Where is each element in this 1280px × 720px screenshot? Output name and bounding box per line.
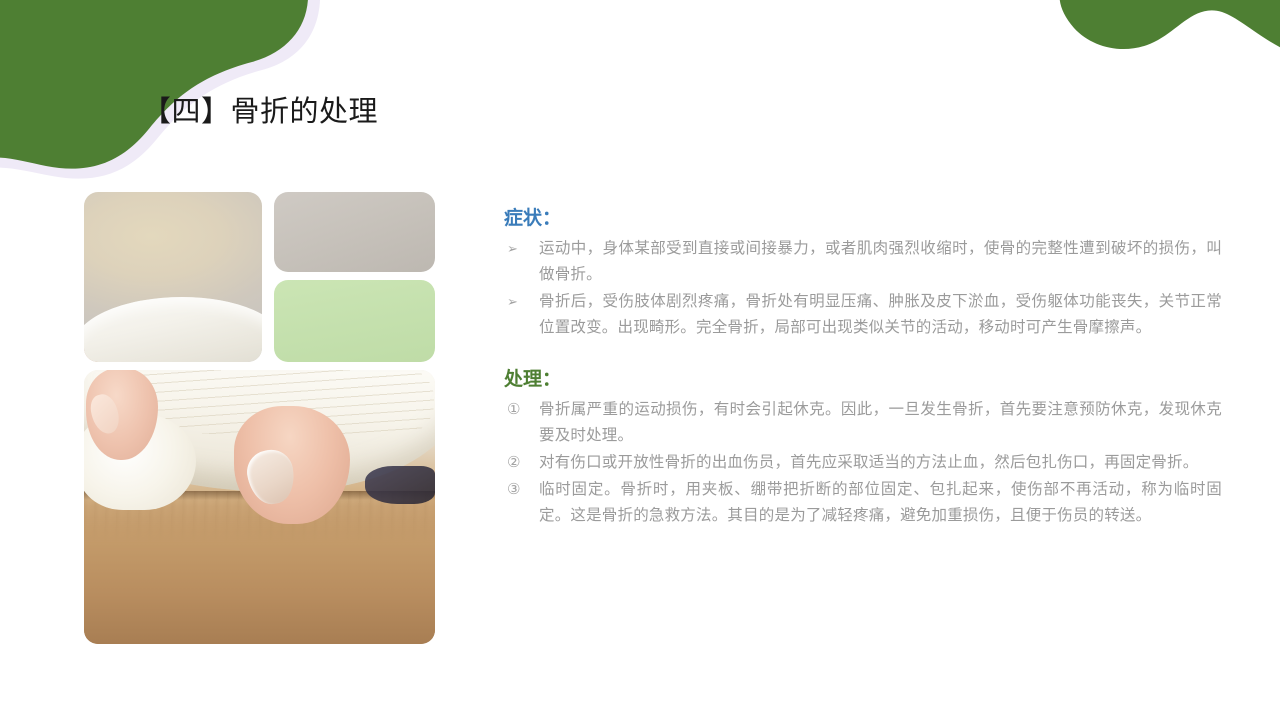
list-item-text: 骨折后，受伤肢体剧烈疼痛，骨折处有明显压痛、肿胀及皮下淤血，受伤躯体功能丧失，关… bbox=[539, 289, 1222, 341]
lavender-shadow-shape bbox=[0, 0, 320, 179]
circled-number-icon: ③ bbox=[504, 477, 539, 503]
section-heading-symptoms: 症状： bbox=[504, 206, 1222, 232]
image-collage bbox=[84, 192, 435, 644]
symptoms-list: ➢ 运动中，身体某部受到直接或间接暴力，或者肌肉强烈收缩时，使骨的完整性遭到破坏… bbox=[504, 236, 1222, 341]
content-column: 症状： ➢ 运动中，身体某部受到直接或间接暴力，或者肌肉强烈收缩时，使骨的完整性… bbox=[504, 206, 1222, 555]
background-dark-patch bbox=[365, 466, 435, 504]
thumbnail-shape bbox=[244, 446, 299, 507]
section-treatment: 处理： ① 骨折属严重的运动损伤，有时会引起休克。因此，一旦发生骨折，首先要注意… bbox=[504, 367, 1222, 529]
green-blob-top-left bbox=[0, 0, 308, 169]
circled-number-icon: ① bbox=[504, 397, 539, 423]
thumb-shape bbox=[234, 406, 350, 524]
list-item-text: 对有伤口或开放性骨折的出血伤员，首先应采取适当的方法止血，然后包扎伤口，再固定骨… bbox=[539, 450, 1222, 476]
list-item: ① 骨折属严重的运动损伤，有时会引起休克。因此，一旦发生骨折，首先要注意预防休克… bbox=[504, 397, 1222, 449]
thumb-tip-shape bbox=[84, 328, 114, 362]
color-block-green bbox=[274, 280, 435, 362]
list-item-text: 骨折属严重的运动损伤，有时会引起休克。因此，一旦发生骨折，首先要注意预防休克，发… bbox=[539, 397, 1222, 449]
photo-bandaged-hand-on-table bbox=[84, 370, 435, 644]
photo-bandaged-hand-closeup bbox=[84, 192, 262, 362]
fingernail-shape bbox=[87, 391, 123, 437]
page-title: 【四】骨折的处理 bbox=[142, 92, 378, 132]
section-symptoms: 症状： ➢ 运动中，身体某部受到直接或间接暴力，或者肌肉强烈收缩时，使骨的完整性… bbox=[504, 206, 1222, 341]
color-block-gray bbox=[274, 192, 435, 272]
list-item-text: 临时固定。骨折时，用夹板、绷带把折断的部位固定、包扎起来，使伤部不再活动，称为临… bbox=[539, 477, 1222, 529]
list-item: ➢ 骨折后，受伤肢体剧烈疼痛，骨折处有明显压痛、肿胀及皮下淤血，受伤躯体功能丧失… bbox=[504, 289, 1222, 341]
arrow-bullet-icon: ➢ bbox=[504, 289, 539, 315]
slide-canvas: 【四】骨折的处理 症状： ➢ bbox=[0, 0, 1280, 720]
section-heading-treatment: 处理： bbox=[504, 367, 1222, 393]
circled-number-icon: ② bbox=[504, 450, 539, 476]
list-item-text: 运动中，身体某部受到直接或间接暴力，或者肌肉强烈收缩时，使骨的完整性遭到破坏的损… bbox=[539, 236, 1222, 288]
green-wave-top-right bbox=[1060, 0, 1280, 52]
list-item: ③ 临时固定。骨折时，用夹板、绷带把折断的部位固定、包扎起来，使伤部不再活动，称… bbox=[504, 477, 1222, 529]
arrow-bullet-icon: ➢ bbox=[504, 236, 539, 262]
treatment-list: ① 骨折属严重的运动损伤，有时会引起休克。因此，一旦发生骨折，首先要注意预防休克… bbox=[504, 397, 1222, 529]
list-item: ➢ 运动中，身体某部受到直接或间接暴力，或者肌肉强烈收缩时，使骨的完整性遭到破坏… bbox=[504, 236, 1222, 288]
list-item: ② 对有伤口或开放性骨折的出血伤员，首先应采取适当的方法止血，然后包扎伤口，再固… bbox=[504, 450, 1222, 476]
